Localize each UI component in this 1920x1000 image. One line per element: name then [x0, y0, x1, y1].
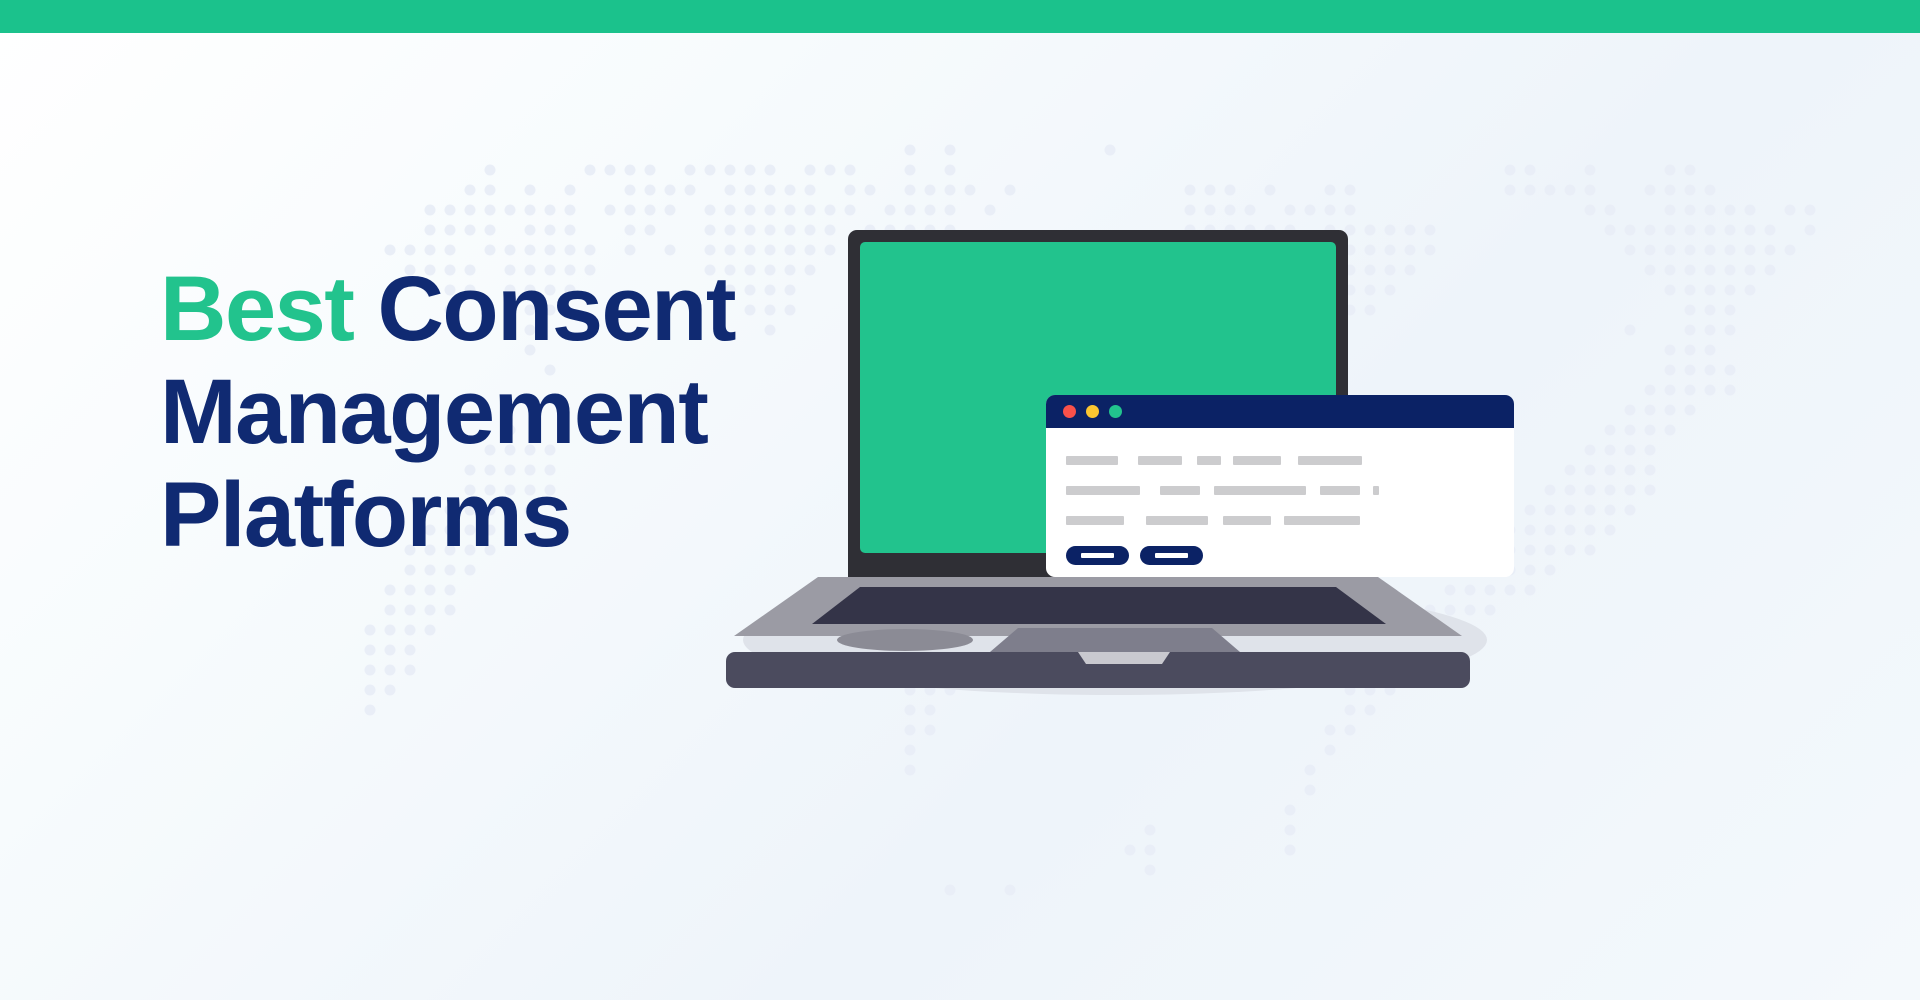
skeleton-bar: [1146, 516, 1208, 525]
primary-cta-label: [1081, 553, 1114, 558]
laptop-deck-highlight: [837, 629, 973, 651]
top-accent-bar: [0, 0, 1920, 33]
skeleton-bar: [1233, 456, 1281, 465]
primary-cta-button[interactable]: [1066, 546, 1129, 565]
headline-line-2: Management: [160, 361, 920, 464]
skeleton-bar: [1138, 456, 1182, 465]
cta-button-row: [1066, 546, 1514, 565]
maximize-dot-icon[interactable]: [1109, 405, 1122, 418]
headline-line-1-rest: Consent: [353, 258, 735, 360]
headline-accent-word: Best: [160, 258, 353, 360]
secondary-cta-button[interactable]: [1140, 546, 1203, 565]
skeleton-text-block: [1066, 456, 1514, 525]
hero-banner: Best Consent Management Platforms: [0, 0, 1920, 1000]
skeleton-row: [1066, 456, 1514, 465]
secondary-cta-label: [1155, 553, 1188, 558]
skeleton-bar: [1066, 486, 1140, 495]
headline-line-1: Best Consent: [160, 258, 920, 361]
minimize-dot-icon[interactable]: [1086, 405, 1099, 418]
laptop-keyboard: [812, 587, 1386, 624]
skeleton-bar: [1066, 456, 1118, 465]
skeleton-bar: [1373, 486, 1379, 495]
laptop-trackpad: [990, 628, 1240, 652]
laptop-front-notch: [1078, 652, 1170, 664]
skeleton-bar: [1284, 516, 1360, 525]
skeleton-bar: [1160, 486, 1200, 495]
page-title: Best Consent Management Platforms: [160, 258, 920, 567]
skeleton-bar: [1197, 456, 1221, 465]
headline-line-3: Platforms: [160, 464, 920, 567]
skeleton-row: [1066, 516, 1514, 525]
skeleton-bar: [1298, 456, 1362, 465]
browser-window-mock: [1046, 395, 1514, 577]
skeleton-bar: [1214, 486, 1306, 495]
skeleton-bar: [1223, 516, 1271, 525]
skeleton-row: [1066, 486, 1514, 495]
skeleton-bar: [1066, 516, 1124, 525]
close-dot-icon[interactable]: [1063, 405, 1076, 418]
skeleton-bar: [1320, 486, 1360, 495]
browser-content: [1046, 428, 1514, 565]
browser-titlebar: [1046, 395, 1514, 428]
